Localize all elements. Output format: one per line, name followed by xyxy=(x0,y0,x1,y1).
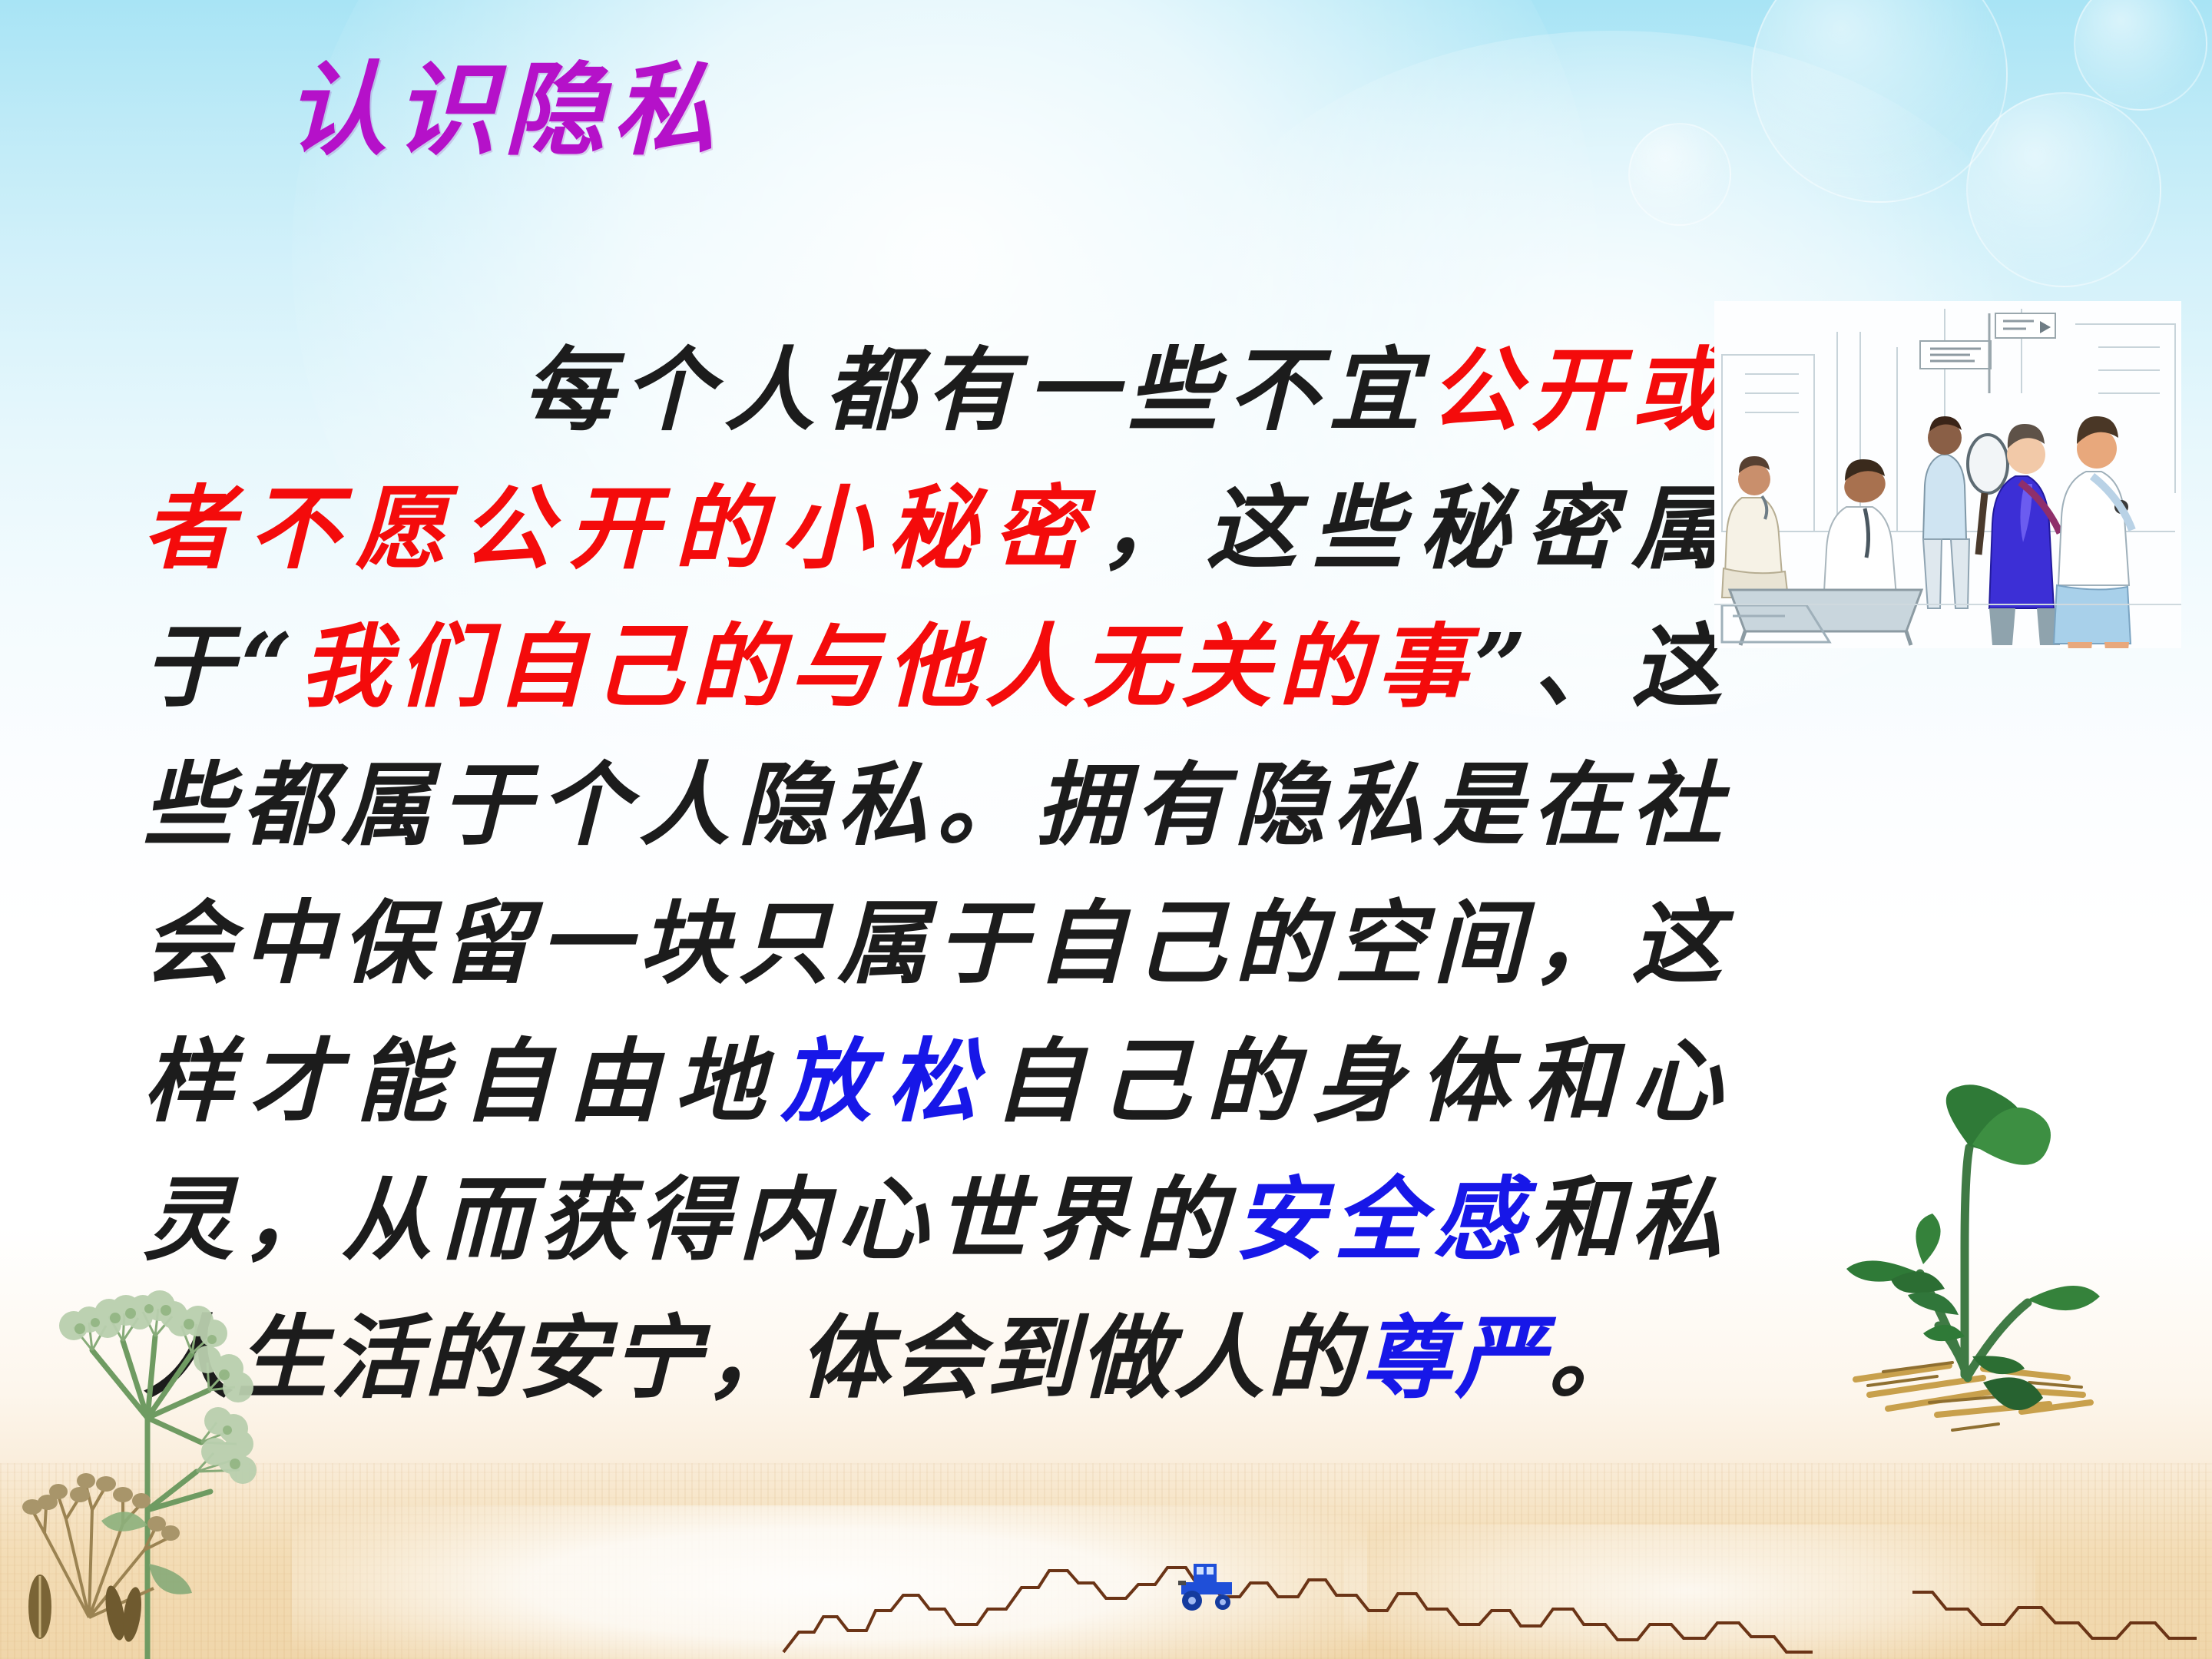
skyline-outline-decoration xyxy=(0,1502,2212,1655)
blue-tractor-icon xyxy=(1174,1558,1243,1613)
body-run-9: 尊严 xyxy=(1361,1304,1548,1411)
background-bubble xyxy=(1966,92,2161,287)
body-run-5: 放松 xyxy=(781,1028,994,1134)
seedling-illustration: FOTOSEARCH.com xyxy=(1837,1072,2175,1456)
body-paragraph: 每个人都有一些不宜公开或者不愿公开的小秘密，这些秘密属于“我们自己的与他人无关的… xyxy=(143,321,1725,1427)
umbellifer-botanical-illustration: FOTOSEARCH.com xyxy=(18,1280,280,1659)
background-bubble xyxy=(1628,123,1731,226)
body-run-7: 安全感 xyxy=(1234,1166,1532,1273)
body-run-10: 。 xyxy=(1548,1304,1642,1411)
people-waiting-illustration: FOTOSEARCH.com xyxy=(1714,301,2181,648)
body-paragraph-text: 每个人都有一些不宜公开或者不愿公开的小秘密，这些秘密属于“我们自己的与他人无关的… xyxy=(143,321,1725,1427)
page-title: 认识隐私 xyxy=(286,60,722,161)
slide-canvas: 认识隐私 每个人都有一些不宜公开或者不愿公开的小秘密，这些秘密属于“我们自己的与… xyxy=(0,0,2212,1659)
body-run-3: 我们自己的与他人无关的事 xyxy=(296,613,1474,720)
body-run-0: 每个人都有一些不宜 xyxy=(321,336,1430,443)
